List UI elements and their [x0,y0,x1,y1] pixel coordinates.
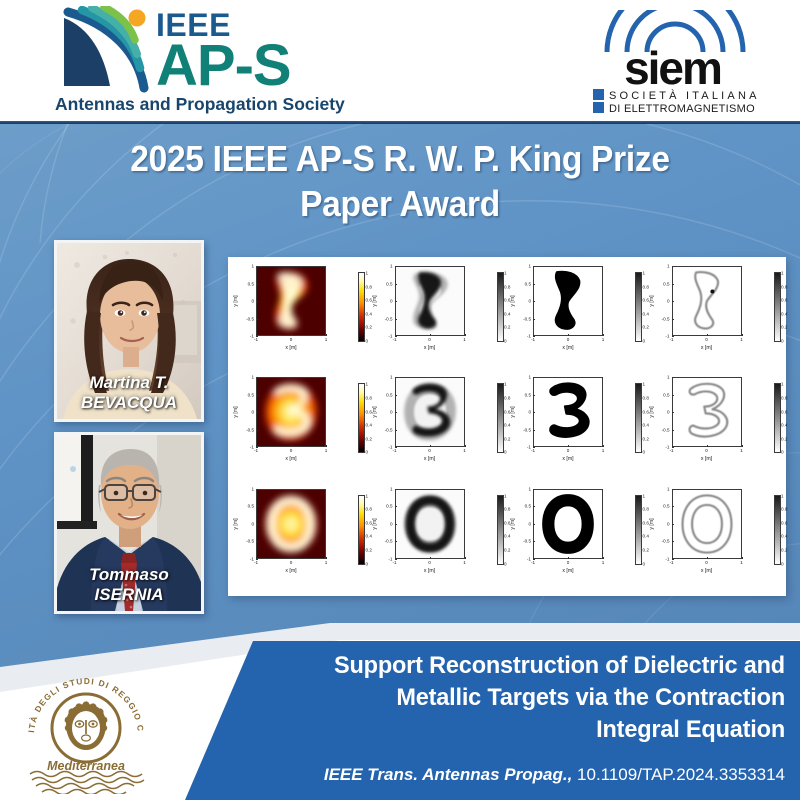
y-tick-mark [672,377,674,378]
y-tick-label: 1 [390,264,393,269]
x-axis-label: x [m] [285,568,296,574]
x-tick-mark [326,445,327,447]
aps-subtitle: Antennas and Propagation Society [55,94,345,115]
y-tick-label: -0.5 [385,316,393,321]
colorbar-tick-label: 0.6 [781,298,787,303]
colorbar-tick-label: 1 [781,382,784,387]
subplot-r1-c2: 10.50-0.5-1-101y [m]x [m]10.80.60.40.20 [369,260,508,371]
x-tick-label: 0 [705,560,708,565]
y-tick-label: 1 [390,486,393,491]
subplot-inner: 10.50-0.5-1-101y [m]x [m]10.80.60.40.20 [256,489,326,559]
header-divider [0,121,800,124]
siem-square-2-icon [593,102,604,113]
y-axis-label: y [m] [649,518,655,529]
recipient-name-bevacqua: Martina T. BEVACQUA [57,373,201,413]
colorbar-tick-label: 0.2 [781,548,787,553]
y-tick-label: 0.5 [663,392,669,397]
y-tick-label: 0.5 [525,281,531,286]
x-tick-label: 0 [567,560,570,565]
y-tick-mark [256,377,258,378]
y-axis-label: y [m] [233,295,239,306]
colorbar: 10.80.60.40.20 [497,383,504,453]
subplot-inner: 10.50-0.5-1-101y [m]x [m]10.80.60.40.20 [533,377,603,447]
y-tick-mark [672,412,674,413]
y-tick-mark [256,524,258,525]
y-tick-mark [533,319,535,320]
x-tick-mark [568,334,569,336]
subplot-inner: 10.50-0.5-1-101y [m]x [m]10.80.60.40.20 [395,266,465,336]
subplot-axes [533,377,603,447]
reconstruction-map [673,267,741,335]
y-tick-mark [533,430,535,431]
colorbar: 10.80.60.40.20 [774,495,781,565]
y-tick-mark [395,266,397,267]
x-tick-mark [291,557,292,559]
aps-wordmark: IEEE AP-S [156,8,291,94]
y-tick-label: -0.5 [523,427,531,432]
reconstruction-map [673,490,741,558]
colorbar-tick-label: 0.2 [781,325,787,330]
reconstruction-map [534,490,602,558]
colorbar-tick-label: 1 [781,493,784,498]
y-tick-label: 0 [251,299,254,304]
x-tick-label: 1 [740,560,743,565]
x-tick-label: 1 [325,337,328,342]
x-tick-label: 1 [463,560,466,565]
colorbar: 10.80.60.40.20 [497,272,504,342]
x-axis-label: x [m] [562,568,573,574]
y-tick-mark [533,301,535,302]
x-tick-mark [533,557,534,559]
colorbar: 10.80.60.40.20 [774,272,781,342]
paper-citation: IEEE Trans. Antennas Propag., 10.1109/TA… [200,764,785,786]
y-tick-mark [395,395,397,396]
reconstruction-map [396,267,464,335]
y-tick-label: -0.5 [385,427,393,432]
x-tick-mark [430,445,431,447]
subplot-r3-c1: 10.50-0.5-1-101y [m]x [m]10.80.60.40.20 [230,483,369,594]
colorbar-tick-label: 0 [781,450,784,455]
x-tick-label: -1 [392,448,396,453]
paper-doi: 10.1109/TAP.2024.3353314 [577,765,785,784]
colorbar-tick-label: 0.8 [781,507,787,512]
y-tick-label: 1 [528,264,531,269]
siem-square-1-icon [593,89,604,100]
x-axis-label: x [m] [285,345,296,351]
y-tick-mark [533,489,535,490]
y-tick-mark [256,489,258,490]
recipient-name-isernia: Tommaso ISERNIA [57,565,201,605]
siem-logo: siem SOCIETÀ ITALIANA DI ELETTROMAGNETIS… [565,10,780,115]
award-title-line1: 2025 IEEE AP-S R. W. P. King Prize [65,136,735,181]
y-tick-label: 0 [667,410,670,415]
y-tick-mark [672,430,674,431]
antenna-waves-icon [52,6,162,98]
y-tick-label: 0.5 [663,281,669,286]
y-axis-label: y [m] [233,518,239,529]
reconstruction-map [673,378,741,446]
colorbar: 10.80.60.40.20 [635,495,642,565]
x-axis-label: x [m] [424,345,435,351]
y-tick-label: 0 [390,521,393,526]
x-tick-mark [465,334,466,336]
y-tick-mark [533,377,535,378]
subplot-r1-c3: 10.50-0.5-1-101y [m]x [m]10.80.60.40.20 [507,260,646,371]
x-tick-mark [465,557,466,559]
x-tick-label: 0 [428,560,431,565]
x-tick-label: 1 [602,560,605,565]
x-tick-label: -1 [392,560,396,565]
y-tick-label: 0.5 [525,392,531,397]
x-axis-label: x [m] [285,456,296,462]
x-tick-mark [395,334,396,336]
x-tick-label: 1 [463,448,466,453]
colorbar-tick-label: 0.4 [781,423,787,428]
colorbar: 10.80.60.40.20 [358,383,365,453]
y-tick-label: -0.5 [662,427,670,432]
x-tick-mark [430,334,431,336]
recipient-name-line2: BEVACQUA [57,393,201,413]
subplot-axes [256,377,326,447]
paper-title-line3: Integral Equation [223,714,785,746]
x-axis-label: x [m] [424,456,435,462]
y-tick-label: 1 [251,264,254,269]
colorbar-tick-label: 0 [781,561,784,566]
recipient-name-line2: ISERNIA [57,585,201,605]
y-axis-label: y [m] [372,518,378,529]
y-tick-mark [256,266,258,267]
x-tick-label: 1 [602,448,605,453]
y-tick-label: -0.5 [523,316,531,321]
subplot-inner: 10.50-0.5-1-101y [m]x [m]10.80.60.40.20 [533,266,603,336]
y-tick-mark [672,506,674,507]
y-tick-label: 0 [251,410,254,415]
x-tick-mark [672,557,673,559]
y-tick-label: 1 [667,375,670,380]
y-tick-label: 1 [667,486,670,491]
y-tick-label: 1 [528,375,531,380]
poster-header: IEEE AP-S Antennas and Propagation Socie… [0,0,800,123]
y-axis-label: y [m] [649,295,655,306]
subplot-r2-c1: 10.50-0.5-1-101y [m]x [m]10.80.60.40.20 [230,371,369,482]
colorbar: 10.80.60.40.20 [774,383,781,453]
y-axis-label: y [m] [510,518,516,529]
y-tick-mark [533,506,535,507]
x-tick-label: 1 [740,337,743,342]
x-tick-label: 1 [740,448,743,453]
x-tick-mark [742,334,743,336]
reconstruction-map [534,267,602,335]
subplot-axes [672,266,742,336]
ieee-aps-logo: IEEE AP-S Antennas and Propagation Socie… [52,6,342,118]
y-tick-label: 0 [528,299,531,304]
y-tick-mark [672,489,674,490]
x-tick-mark [395,557,396,559]
colorbar-tick-label: 0.4 [781,311,787,316]
x-tick-label: 0 [567,448,570,453]
x-tick-label: -1 [392,337,396,342]
x-axis-label: x [m] [701,568,712,574]
y-tick-mark [395,524,397,525]
y-tick-mark [256,395,258,396]
y-tick-label: -0.5 [385,539,393,544]
x-tick-label: 1 [325,560,328,565]
y-tick-mark [533,284,535,285]
colorbar-tick-label: 0.8 [781,395,787,400]
subplot-inner: 10.50-0.5-1-101y [m]x [m]10.80.60.40.20 [395,377,465,447]
y-tick-mark [256,284,258,285]
y-tick-mark [395,430,397,431]
x-tick-label: 0 [290,448,293,453]
reconstruction-map [534,378,602,446]
siem-subtitle-line2: DI ELETTROMAGNETISMO [609,103,755,115]
y-tick-mark [533,266,535,267]
subplot-inner: 10.50-0.5-1-101y [m]x [m]10.80.60.40.20 [395,489,465,559]
x-tick-label: 0 [705,448,708,453]
recipient-photo-isernia: Tommaso ISERNIA [54,432,204,614]
y-tick-label: 0.5 [248,504,254,509]
x-tick-mark [291,334,292,336]
subplot-axes [672,377,742,447]
y-tick-label: 0 [667,299,670,304]
subplot-r2-c3: 10.50-0.5-1-101y [m]x [m]10.80.60.40.20 [507,371,646,482]
subplot-r3-c2: 10.50-0.5-1-101y [m]x [m]10.80.60.40.20 [369,483,508,594]
y-tick-mark [395,489,397,490]
x-tick-label: -1 [531,337,535,342]
x-tick-label: -1 [669,448,673,453]
colorbar-tick-label: 0.6 [781,520,787,525]
subplot-r1-c4: 10.50-0.5-1-101y [m]x [m]10.80.60.40.20 [646,260,785,371]
award-title-line2: Paper Award [65,181,735,226]
paper-journal: IEEE Trans. Antennas Propag., [324,765,572,784]
x-tick-label: 0 [428,448,431,453]
x-tick-mark [707,445,708,447]
x-tick-mark [672,334,673,336]
x-axis-label: x [m] [701,345,712,351]
y-tick-label: -0.5 [246,539,254,544]
reconstruction-map [396,490,464,558]
y-tick-label: 0.5 [386,281,392,286]
colorbar-tick-label: 0.8 [781,284,787,289]
reconstruction-map [257,378,325,446]
subplot-r3-c3: 10.50-0.5-1-101y [m]x [m]10.80.60.40.20 [507,483,646,594]
x-tick-label: -1 [254,337,258,342]
y-tick-label: 0 [528,521,531,526]
y-tick-label: -0.5 [246,316,254,321]
reconstruction-map [257,490,325,558]
subplot-axes [533,266,603,336]
subplot-axes [395,377,465,447]
subplot-axes [395,489,465,559]
x-tick-mark [742,557,743,559]
x-tick-label: -1 [669,560,673,565]
recipient-name-line1: Martina T. [57,373,201,393]
y-tick-mark [256,301,258,302]
y-tick-mark [533,524,535,525]
y-tick-label: 1 [528,486,531,491]
x-axis-label: x [m] [424,568,435,574]
colorbar: 10.80.60.40.20 [358,272,365,342]
x-tick-mark [256,445,257,447]
colorbar-tick-label: 0.6 [781,409,787,414]
y-tick-label: 0 [390,410,393,415]
subplot-inner: 10.50-0.5-1-101y [m]x [m]10.80.60.40.20 [256,377,326,447]
paper-title-line2: Metallic Targets via the Contraction [223,682,785,714]
y-tick-label: -0.5 [662,316,670,321]
subplot-r2-c4: 10.50-0.5-1-101y [m]x [m]10.80.60.40.20 [646,371,785,482]
x-tick-mark [568,445,569,447]
y-tick-mark [395,284,397,285]
y-tick-label: 0.5 [663,504,669,509]
y-tick-label: 0 [528,410,531,415]
y-axis-label: y [m] [510,407,516,418]
y-tick-mark [395,319,397,320]
x-tick-label: 0 [428,337,431,342]
x-tick-mark [291,445,292,447]
x-tick-label: -1 [669,337,673,342]
x-tick-mark [603,557,604,559]
x-tick-mark [533,445,534,447]
aps-text: AP-S [156,38,291,94]
reconstruction-map [257,267,325,335]
x-tick-label: 0 [290,337,293,342]
y-tick-mark [672,395,674,396]
y-tick-label: 1 [390,375,393,380]
colorbar-tick-label: 0 [781,339,784,344]
y-tick-mark [256,541,258,542]
subplot-r2-c2: 10.50-0.5-1-101y [m]x [m]10.80.60.40.20 [369,371,508,482]
y-axis-label: y [m] [372,295,378,306]
subplot-axes [256,489,326,559]
figure-subplot-grid: 10.50-0.5-1-101y [m]x [m]10.80.60.40.201… [230,260,784,594]
subplot-axes [256,266,326,336]
y-tick-label: 0 [390,299,393,304]
x-tick-label: 0 [290,560,293,565]
y-tick-mark [256,506,258,507]
x-tick-mark [326,557,327,559]
y-tick-mark [672,301,674,302]
y-tick-label: -0.5 [662,539,670,544]
x-tick-mark [603,445,604,447]
x-tick-mark [256,557,257,559]
subplot-r1-c1: 10.50-0.5-1-101y [m]x [m]10.80.60.40.20 [230,260,369,371]
x-tick-mark [707,557,708,559]
recipient-name-line1: Tommaso [57,565,201,585]
university-logo: UNIVERSITÀ DEGLI STUDI DI REGGIO CALABRI… [16,662,156,794]
x-tick-label: 1 [602,337,605,342]
y-tick-mark [256,430,258,431]
y-tick-label: 1 [667,264,670,269]
x-tick-label: -1 [254,448,258,453]
y-tick-label: -0.5 [246,427,254,432]
colorbar: 10.80.60.40.20 [497,495,504,565]
x-axis-label: x [m] [562,456,573,462]
y-axis-label: y [m] [372,407,378,418]
x-tick-mark [672,445,673,447]
x-tick-mark [395,445,396,447]
x-tick-mark [533,334,534,336]
y-tick-label: 1 [251,486,254,491]
y-tick-mark [533,541,535,542]
y-tick-label: 0.5 [386,392,392,397]
x-tick-mark [568,557,569,559]
y-tick-label: 0 [667,521,670,526]
subplot-axes [533,489,603,559]
y-tick-label: 0.5 [248,281,254,286]
y-axis-label: y [m] [233,407,239,418]
subplot-axes [395,266,465,336]
x-tick-label: 1 [325,448,328,453]
y-tick-mark [672,319,674,320]
x-tick-label: 0 [567,337,570,342]
y-tick-label: 0 [251,521,254,526]
seal-word: Mediterranea [47,759,125,773]
y-tick-mark [533,412,535,413]
x-axis-label: x [m] [562,345,573,351]
y-tick-mark [395,301,397,302]
x-tick-label: 0 [705,337,708,342]
reconstruction-map [396,378,464,446]
results-figure-panel: 10.50-0.5-1-101y [m]x [m]10.80.60.40.201… [228,257,786,596]
y-tick-mark [672,266,674,267]
y-axis-label: y [m] [510,295,516,306]
x-tick-label: -1 [531,560,535,565]
y-tick-mark [395,506,397,507]
y-tick-mark [533,395,535,396]
paper-title-line1: Support Reconstruction of Dielectric and [223,650,785,682]
y-axis-label: y [m] [649,407,655,418]
subplot-inner: 10.50-0.5-1-101y [m]x [m]10.80.60.40.20 [533,489,603,559]
y-tick-label: 1 [251,375,254,380]
subplot-r3-c4: 10.50-0.5-1-101y [m]x [m]10.80.60.40.20 [646,483,785,594]
y-tick-label: 0.5 [525,504,531,509]
y-tick-mark [256,319,258,320]
award-poster: IEEE AP-S Antennas and Propagation Socie… [0,0,800,800]
y-tick-mark [395,541,397,542]
y-tick-mark [672,284,674,285]
colorbar: 10.80.60.40.20 [635,272,642,342]
x-axis-label: x [m] [701,456,712,462]
x-tick-label: -1 [254,560,258,565]
x-tick-mark [603,334,604,336]
y-tick-mark [256,412,258,413]
y-tick-mark [395,412,397,413]
x-tick-label: -1 [531,448,535,453]
paper-title: Support Reconstruction of Dielectric and… [223,650,785,746]
y-tick-mark [672,524,674,525]
subplot-inner: 10.50-0.5-1-101y [m]x [m]10.80.60.40.20 [672,489,742,559]
mediterranea-seal-icon: UNIVERSITÀ DEGLI STUDI DI REGGIO CALABRI… [16,662,156,794]
recipient-photo-bevacqua: Martina T. BEVACQUA [54,240,204,422]
y-tick-mark [672,541,674,542]
x-tick-mark [326,334,327,336]
subplot-inner: 10.50-0.5-1-101y [m]x [m]10.80.60.40.20 [256,266,326,336]
subplot-axes [672,489,742,559]
subplot-inner: 10.50-0.5-1-101y [m]x [m]10.80.60.40.20 [672,266,742,336]
colorbar-tick-label: 0.4 [781,534,787,539]
x-tick-mark [742,445,743,447]
subplot-inner: 10.50-0.5-1-101y [m]x [m]10.80.60.40.20 [672,377,742,447]
colorbar-tick-label: 0.2 [781,436,787,441]
y-tick-label: -0.5 [523,539,531,544]
colorbar-tick-label: 1 [781,271,784,276]
y-tick-mark [395,377,397,378]
x-tick-mark [465,445,466,447]
colorbar: 10.80.60.40.20 [358,495,365,565]
x-tick-label: 1 [463,337,466,342]
y-tick-label: 0.5 [386,504,392,509]
colorbar: 10.80.60.40.20 [635,383,642,453]
